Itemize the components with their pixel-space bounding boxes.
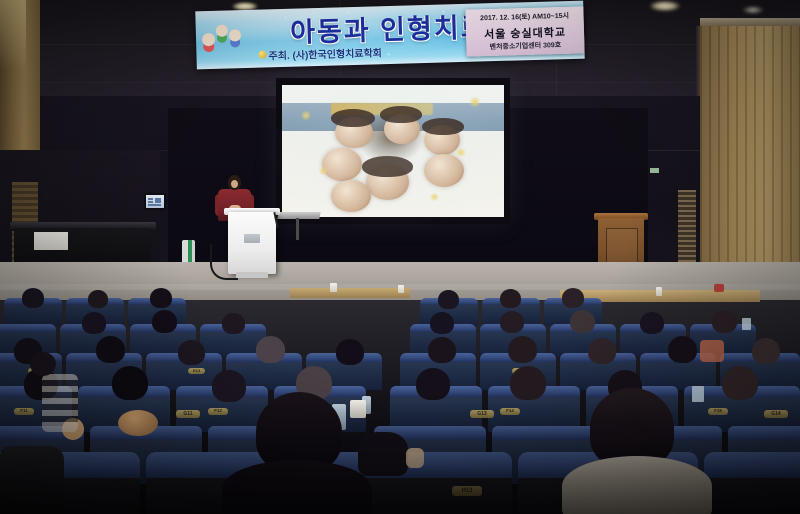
seat-number-plate: H13 xyxy=(452,486,482,496)
attendee-head xyxy=(112,366,148,400)
event-room: 벤처중소기업센터 309호 xyxy=(466,39,584,52)
attendee-head xyxy=(570,310,595,333)
wall-notice-icon xyxy=(146,195,164,208)
paper-cup xyxy=(330,283,337,292)
paper-cup xyxy=(398,285,404,293)
attendee-head xyxy=(500,311,524,333)
attendee-hand xyxy=(406,448,424,468)
ceiling-light-icon xyxy=(650,1,680,11)
seat-number-plate: G14 xyxy=(764,410,788,418)
seat-number-plate: G11 xyxy=(176,410,200,418)
attendee-head xyxy=(640,312,664,334)
slide-child-hair xyxy=(331,109,375,127)
attendee-head xyxy=(222,313,245,334)
paper-cup xyxy=(350,400,366,418)
slide-child-face xyxy=(424,154,464,187)
wall-seam xyxy=(648,150,700,151)
attendee-head xyxy=(22,288,44,308)
slide-child-hair xyxy=(380,106,422,123)
seat-number-plate: E13 xyxy=(188,368,205,374)
phone-screen xyxy=(692,386,704,402)
side-table-leg xyxy=(296,218,299,240)
seat-number-plate: F14 xyxy=(500,408,520,415)
floor-cable xyxy=(210,244,238,280)
paper-cup xyxy=(656,287,662,296)
slide-child-hair xyxy=(362,156,413,177)
seat-headrest xyxy=(0,324,56,332)
attendee-hair-bun xyxy=(118,410,158,436)
attendee-head xyxy=(336,339,364,365)
attendee-hair-bun xyxy=(620,418,648,442)
ceiling-light-icon xyxy=(742,6,764,14)
seat-headrest xyxy=(492,426,604,440)
attendee-head xyxy=(96,336,125,363)
attendee-head xyxy=(30,352,56,376)
seat-headrest xyxy=(728,426,800,440)
left-wall-light-glow xyxy=(0,0,26,70)
podium-logo xyxy=(244,234,260,243)
seat-number-plate: F11 xyxy=(14,408,34,415)
seat-headrest xyxy=(704,452,800,478)
attendee-head xyxy=(430,312,454,334)
attendee-head xyxy=(416,368,450,400)
auditorium-photo: ✦ ✦ ✦ ✦ ✦ 아동과 인형치료 주최. (사)한국인형치료학회 2017.… xyxy=(0,0,800,514)
attendee-head xyxy=(438,290,459,309)
seat-back-panel xyxy=(704,474,800,514)
projection-screen-image xyxy=(282,85,504,217)
attendee-head xyxy=(588,338,616,364)
podium-base xyxy=(236,272,268,278)
attendee-striped-clothing xyxy=(42,374,78,432)
presenter-face xyxy=(231,180,238,188)
attendee-head xyxy=(82,312,106,334)
exit-sign-icon xyxy=(650,168,659,173)
seat-number-plate: G13 xyxy=(470,410,494,418)
attendee-shoulders xyxy=(222,460,372,514)
attendee-head xyxy=(712,310,737,333)
rear-table xyxy=(290,288,410,298)
attendee-head xyxy=(752,338,780,364)
event-date: 2017. 12. 16(토) AM10~15시 xyxy=(465,10,583,23)
attendee-head xyxy=(510,366,546,400)
attendee-head xyxy=(722,366,758,400)
attendee-head xyxy=(88,290,108,308)
seat-number-plate: F15 xyxy=(708,408,728,415)
slide-butterfly-icon xyxy=(318,167,329,175)
seat-number-plate: F12 xyxy=(208,408,228,415)
attendee-head xyxy=(562,288,584,308)
phone-screen xyxy=(742,318,751,330)
side-table xyxy=(277,212,320,219)
attendee-head xyxy=(256,336,285,363)
attendee-clothing xyxy=(700,340,724,362)
attendee-head xyxy=(668,336,697,363)
event-info-plate: 2017. 12. 16(토) AM10~15시 서울 숭실대학교 벤처중소기업… xyxy=(465,6,584,56)
attendee-shoulders xyxy=(0,446,64,514)
attendee-head xyxy=(150,288,172,308)
attendee-head xyxy=(152,310,177,333)
attendee-head xyxy=(358,432,408,476)
slide-child-face xyxy=(331,180,371,212)
slide-butterfly-icon xyxy=(429,193,440,201)
attendee-head xyxy=(500,289,521,308)
red-item xyxy=(714,284,724,292)
slide-child-hair xyxy=(422,118,464,135)
attendee-head xyxy=(178,340,205,365)
attendee-head xyxy=(428,337,456,363)
attendee-head xyxy=(508,336,537,363)
piano-sheet-music xyxy=(34,232,68,250)
attendee-shoulders xyxy=(562,456,712,514)
attendee-head xyxy=(212,370,246,402)
